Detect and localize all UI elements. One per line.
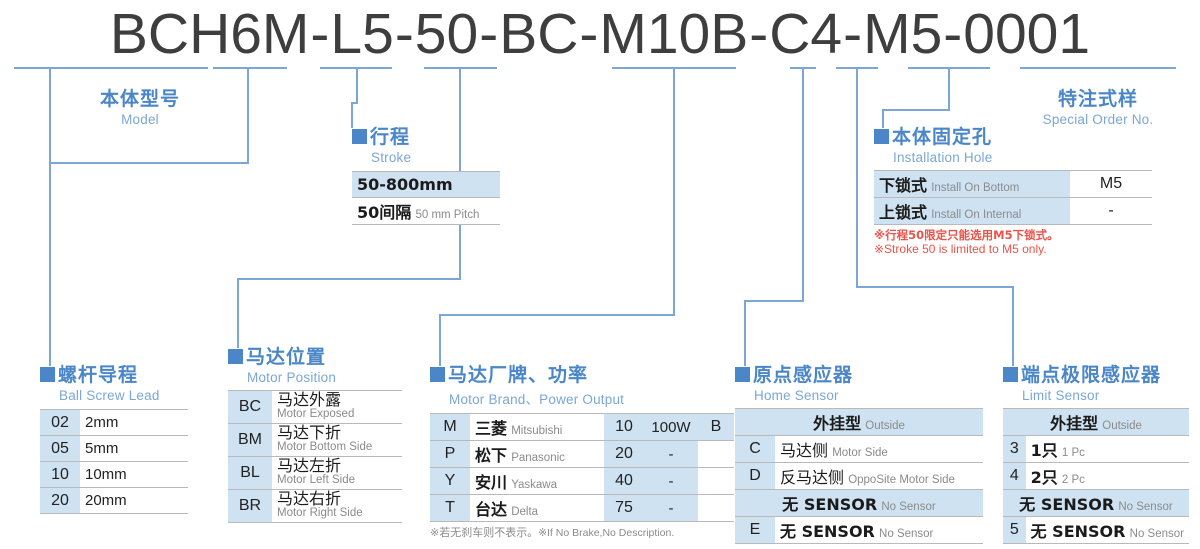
brand-cn: 安川 (475, 473, 507, 492)
limit-sensor-group-header: 无 SENSOR No Sensor (1003, 490, 1189, 517)
limit-sensor-en: 1 Pc (1062, 447, 1085, 459)
brand-en: Delta (511, 506, 538, 518)
brand-cn: 三菱 (475, 419, 507, 438)
power-value[interactable]: - (644, 441, 698, 468)
section-model: 本体型号 Model (55, 84, 225, 127)
limit-sensor-table: 外挂型 Outside 3 1只 1 Pc 4 2只 2 Pc (1003, 408, 1189, 544)
lead-code[interactable]: 02 (40, 410, 80, 436)
motor-brand-power-table: M 三菱 Mitsubishi 10 100W B P 松下 Panasonic… (430, 413, 734, 522)
motor-position-cn: 马达右折 (277, 492, 397, 506)
motor-position-table: BC 马达外露 Motor Exposed BM 马达下折 Motor Bott… (228, 390, 402, 523)
limit-sensor-code[interactable]: 5 (1003, 517, 1026, 544)
bullet-square-icon (1003, 367, 1018, 382)
installation-hole-warning: ※行程50限定只能选用M5下锁式。 ※Stroke 50 is limited … (874, 228, 1152, 256)
limit-sensor-group-cn: 外挂型 (1050, 414, 1098, 433)
home-sensor-group-en: Outside (865, 420, 905, 432)
installation-hole-warning-en: ※Stroke 50 is limited to M5 only. (874, 242, 1152, 256)
limit-sensor-cn: 无 SENSOR (1031, 522, 1126, 541)
limit-sensor-en: No Sensor (1130, 528, 1184, 540)
table-row[interactable]: 3 1只 1 Pc (1003, 436, 1189, 463)
code-separator: - (578, 2, 599, 66)
table-row: 外挂型 Outside (735, 409, 983, 436)
limit-sensor-group-header: 外挂型 Outside (1003, 409, 1189, 436)
motor-position-cn: 马达外露 (277, 393, 397, 407)
stroke-range-value: 50-800mm (357, 175, 453, 194)
table-row[interactable]: 4 2只 2 Pc (1003, 463, 1189, 490)
table-row[interactable]: M 三菱 Mitsubishi 10 100W B (430, 414, 734, 441)
table-row[interactable]: 10 10mm (40, 462, 188, 488)
table-row[interactable]: D 反马达侧 OppoSite Motor Side (735, 463, 983, 490)
section-motor-position: 马达位置 Motor Position BC 马达外露 Motor Expose… (228, 342, 402, 523)
section-model-title-en: Model (55, 112, 225, 127)
section-motor-position-title-en: Motor Position (247, 370, 402, 385)
lead-code[interactable]: 20 (40, 488, 80, 514)
table-row[interactable]: 02 2mm (40, 410, 188, 436)
code-segment-installation-hole: M5 (863, 2, 942, 66)
brand-code[interactable]: P (430, 441, 470, 468)
power-value[interactable]: - (644, 468, 698, 495)
table-row[interactable]: E 无 SENSOR No Sensor (735, 517, 983, 544)
motor-position-code[interactable]: BR (228, 490, 272, 523)
table-row[interactable]: T 台达 Delta 75 - (430, 495, 734, 522)
brake-code[interactable] (698, 468, 734, 495)
brand-cn: 松下 (475, 446, 507, 465)
install-bottom-label[interactable]: 下锁式 Install On Bottom (874, 171, 1070, 198)
limit-sensor-cn: 1只 (1031, 441, 1058, 460)
install-bottom-en: Install On Bottom (931, 182, 1019, 194)
home-sensor-en: Motor Side (832, 447, 888, 459)
table-row[interactable]: BC 马达外露 Motor Exposed (228, 391, 402, 424)
stroke-table: 50-800mm 50间隔 50 mm Pitch (352, 171, 500, 225)
section-special-order-title-cn: 特注式样 (1058, 88, 1138, 110)
limit-sensor-group-en: No Sensor (1118, 501, 1172, 513)
lead-value[interactable]: 5mm (80, 436, 188, 462)
motor-position-en: Motor Right Side (277, 506, 397, 520)
lead-value[interactable]: 20mm (80, 488, 188, 514)
motor-position-value[interactable]: 马达外露 Motor Exposed (272, 391, 402, 424)
section-installation-hole-title-cn: 本体固定孔 (892, 126, 992, 148)
brand-en: Mitsubishi (511, 425, 562, 437)
table-row[interactable]: BM 马达下折 Motor Bottom Side (228, 424, 402, 457)
bullet-square-icon (430, 367, 445, 382)
stroke-pitch-cell[interactable]: 50间隔 50 mm Pitch (352, 198, 500, 225)
brake-code[interactable]: B (698, 414, 734, 441)
section-limit-sensor-title-en: Limit Sensor (1022, 388, 1189, 403)
table-row[interactable]: 50-800mm (352, 172, 500, 198)
lead-value[interactable]: 10mm (80, 462, 188, 488)
home-sensor-cn: 反马达侧 (780, 468, 844, 487)
table-row[interactable]: BR 马达右折 Motor Right Side (228, 490, 402, 523)
limit-sensor-en: 2 Pc (1062, 474, 1085, 486)
stroke-pitch-cn: 50间隔 (357, 203, 411, 222)
install-bottom-cn: 下锁式 (879, 176, 927, 195)
table-row[interactable]: C 马达侧 Motor Side (735, 436, 983, 463)
stroke-range-cell[interactable]: 50-800mm (352, 172, 500, 198)
bullet-square-icon (352, 129, 367, 144)
limit-sensor-code[interactable]: 3 (1003, 436, 1026, 463)
section-motor-brand-power: 马达厂牌、功率 Motor Brand、Power Output M 三菱 Mi… (430, 360, 734, 540)
motor-position-code[interactable]: BM (228, 424, 272, 457)
section-stroke-title-en: Stroke (371, 150, 500, 165)
install-internal-cn: 上锁式 (879, 203, 927, 222)
bullet-square-icon (40, 367, 55, 382)
power-code[interactable]: 20 (604, 441, 644, 468)
home-sensor-group-cn: 无 SENSOR (782, 495, 877, 514)
brand-name[interactable]: 台达 Delta (470, 495, 604, 522)
power-code[interactable]: 10 (604, 414, 644, 441)
limit-sensor-value[interactable]: 无 SENSOR No Sensor (1026, 517, 1189, 544)
section-motor-position-title-cn: 马达位置 (246, 346, 326, 368)
lead-code[interactable]: 10 (40, 462, 80, 488)
home-sensor-code[interactable]: D (735, 463, 775, 490)
section-special-order: 特注式样 Special Order No. (1020, 84, 1176, 127)
section-limit-sensor-title-cn: 端点极限感应器 (1021, 364, 1161, 386)
motor-position-cn: 马达下折 (277, 426, 397, 440)
section-model-title-cn: 本体型号 (100, 88, 180, 110)
home-sensor-cn: 马达侧 (780, 441, 828, 460)
power-code[interactable]: 75 (604, 495, 644, 522)
code-segment-special-order: 0001 (963, 2, 1090, 66)
table-row[interactable]: 上锁式 Install On Internal - (874, 198, 1152, 225)
section-motor-brand-title-en: Motor Brand、Power Output (449, 388, 734, 408)
motor-position-code[interactable]: BC (228, 391, 272, 424)
motor-position-en: Motor Bottom Side (277, 440, 397, 454)
motor-position-cn: 马达左折 (277, 459, 397, 473)
model-code-diagram: BCH6M-L5-50-BC-M10B-C4-M5-0001 (0, 0, 1200, 549)
brand-name[interactable]: 安川 Yaskawa (470, 468, 604, 495)
brand-name[interactable]: 三菱 Mitsubishi (470, 414, 604, 441)
home-sensor-value[interactable]: 反马达侧 OppoSite Motor Side (775, 463, 983, 490)
bullet-square-icon (735, 367, 750, 382)
motor-brand-note-cn: ※若无刹车则不表示。 (430, 526, 538, 539)
code-separator: - (748, 2, 769, 66)
brake-code[interactable] (698, 495, 734, 522)
code-segment-motor-position: BC (499, 2, 578, 66)
code-separator: - (842, 2, 863, 66)
motor-brand-note-en: ※If No Brake,No Description. (538, 527, 674, 539)
home-sensor-value[interactable]: 无 SENSOR No Sensor (775, 517, 983, 544)
home-sensor-value[interactable]: 马达侧 Motor Side (775, 436, 983, 463)
motor-position-value[interactable]: 马达右折 Motor Right Side (272, 490, 402, 523)
lead-value[interactable]: 2mm (80, 410, 188, 436)
limit-sensor-value[interactable]: 2只 2 Pc (1026, 463, 1189, 490)
section-ball-screw-lead-title-cn: 螺杆导程 (58, 364, 138, 386)
home-sensor-en: No Sensor (879, 528, 933, 540)
motor-position-value[interactable]: 马达下折 Motor Bottom Side (272, 424, 402, 457)
home-sensor-code[interactable]: C (735, 436, 775, 463)
section-ball-screw-lead-title-en: Ball Screw Lead (59, 388, 188, 403)
bullet-square-icon (874, 129, 889, 144)
motor-position-en: Motor Left Side (277, 473, 397, 487)
table-row[interactable]: 下锁式 Install On Bottom M5 (874, 171, 1152, 198)
limit-sensor-code[interactable]: 4 (1003, 463, 1026, 490)
section-stroke-title-cn: 行程 (370, 126, 410, 148)
section-home-sensor-title-cn: 原点感应器 (753, 364, 853, 386)
section-stroke: 行程 Stroke 50-800mm 50间隔 50 mm Pitch (352, 122, 500, 225)
table-row[interactable]: Y 安川 Yaskawa 40 - (430, 468, 734, 495)
bullet-square-icon (228, 349, 243, 364)
model-code-title: BCH6M-L5-50-BC-M10B-C4-M5-0001 (0, 4, 1200, 64)
home-sensor-group-header: 外挂型 Outside (735, 409, 983, 436)
section-home-sensor: 原点感应器 Home Sensor 外挂型 Outside C 马达侧 Moto… (735, 360, 983, 544)
install-internal-value[interactable]: - (1070, 198, 1152, 225)
table-row[interactable]: 05 5mm (40, 436, 188, 462)
brand-cn: 台达 (475, 500, 507, 519)
home-sensor-code[interactable]: E (735, 517, 775, 544)
limit-sensor-value[interactable]: 1只 1 Pc (1026, 436, 1189, 463)
table-row: 外挂型 Outside (1003, 409, 1189, 436)
table-row[interactable]: 20 20mm (40, 488, 188, 514)
code-segment-model: BCH6M (110, 2, 310, 66)
limit-sensor-group-en: Outside (1102, 420, 1142, 432)
brand-code[interactable]: Y (430, 468, 470, 495)
power-value[interactable]: 100W (644, 414, 698, 441)
section-home-sensor-title-en: Home Sensor (754, 388, 983, 403)
install-internal-en: Install On Internal (931, 209, 1021, 221)
home-sensor-group-header: 无 SENSOR No Sensor (735, 490, 983, 517)
motor-position-en: Motor Exposed (277, 407, 397, 421)
section-motor-brand-title-cn: 马达厂牌、功率 (448, 364, 588, 386)
installation-hole-warning-cn: ※行程50限定只能选用M5下锁式。 (874, 228, 1152, 242)
install-internal-label[interactable]: 上锁式 Install On Internal (874, 198, 1070, 225)
home-sensor-group-cn: 外挂型 (813, 414, 861, 433)
code-segment-stroke: 50 (415, 2, 478, 66)
code-separator: - (394, 2, 415, 66)
home-sensor-group-en: No Sensor (881, 501, 935, 513)
table-row: 无 SENSOR No Sensor (1003, 490, 1189, 517)
section-installation-hole-title-en: Installation Hole (893, 150, 1152, 165)
limit-sensor-cn: 2只 (1031, 468, 1058, 487)
lead-code[interactable]: 05 (40, 436, 80, 462)
power-value[interactable]: - (644, 495, 698, 522)
brand-en: Panasonic (511, 452, 565, 464)
home-sensor-en: OppoSite Motor Side (848, 474, 955, 486)
motor-brand-note: ※若无刹车则不表示。※If No Brake,No Description. (430, 524, 734, 540)
motor-position-value[interactable]: 马达左折 Motor Left Side (272, 457, 402, 490)
section-ball-screw-lead: 螺杆导程 Ball Screw Lead 02 2mm 05 5mm 10 10… (40, 360, 188, 514)
table-row[interactable]: P 松下 Panasonic 20 - (430, 441, 734, 468)
table-row[interactable]: 5 无 SENSOR No Sensor (1003, 517, 1189, 544)
motor-position-code[interactable]: BL (228, 457, 272, 490)
home-sensor-cn: 无 SENSOR (780, 522, 875, 541)
brand-code[interactable]: T (430, 495, 470, 522)
table-row[interactable]: 50间隔 50 mm Pitch (352, 198, 500, 225)
brake-code[interactable] (698, 441, 734, 468)
home-sensor-table: 外挂型 Outside C 马达侧 Motor Side D 反马达侧 Oppo… (735, 408, 983, 544)
table-row: 无 SENSOR No Sensor (735, 490, 983, 517)
code-separator: - (942, 2, 963, 66)
ball-screw-lead-table: 02 2mm 05 5mm 10 10mm 20 20mm (40, 409, 188, 514)
code-separator: - (478, 2, 499, 66)
section-limit-sensor: 端点极限感应器 Limit Sensor 外挂型 Outside 3 1只 1 … (1003, 360, 1189, 544)
brand-name[interactable]: 松下 Panasonic (470, 441, 604, 468)
install-bottom-value[interactable]: M5 (1070, 171, 1152, 198)
section-installation-hole: 本体固定孔 Installation Hole 下锁式 Install On B… (874, 122, 1152, 256)
table-row[interactable]: BL 马达左折 Motor Left Side (228, 457, 402, 490)
code-segment-sensors: C4 (769, 2, 842, 66)
code-separator: - (309, 2, 330, 66)
installation-hole-table: 下锁式 Install On Bottom M5 上锁式 Install On … (874, 170, 1152, 225)
brand-en: Yaskawa (511, 479, 557, 491)
stroke-pitch-en: 50 mm Pitch (415, 209, 479, 221)
code-segment-lead: L5 (330, 2, 393, 66)
power-code[interactable]: 40 (604, 468, 644, 495)
code-segment-motor-brand: M10B (599, 2, 748, 66)
brand-code[interactable]: M (430, 414, 470, 441)
limit-sensor-group-cn: 无 SENSOR (1019, 495, 1114, 514)
